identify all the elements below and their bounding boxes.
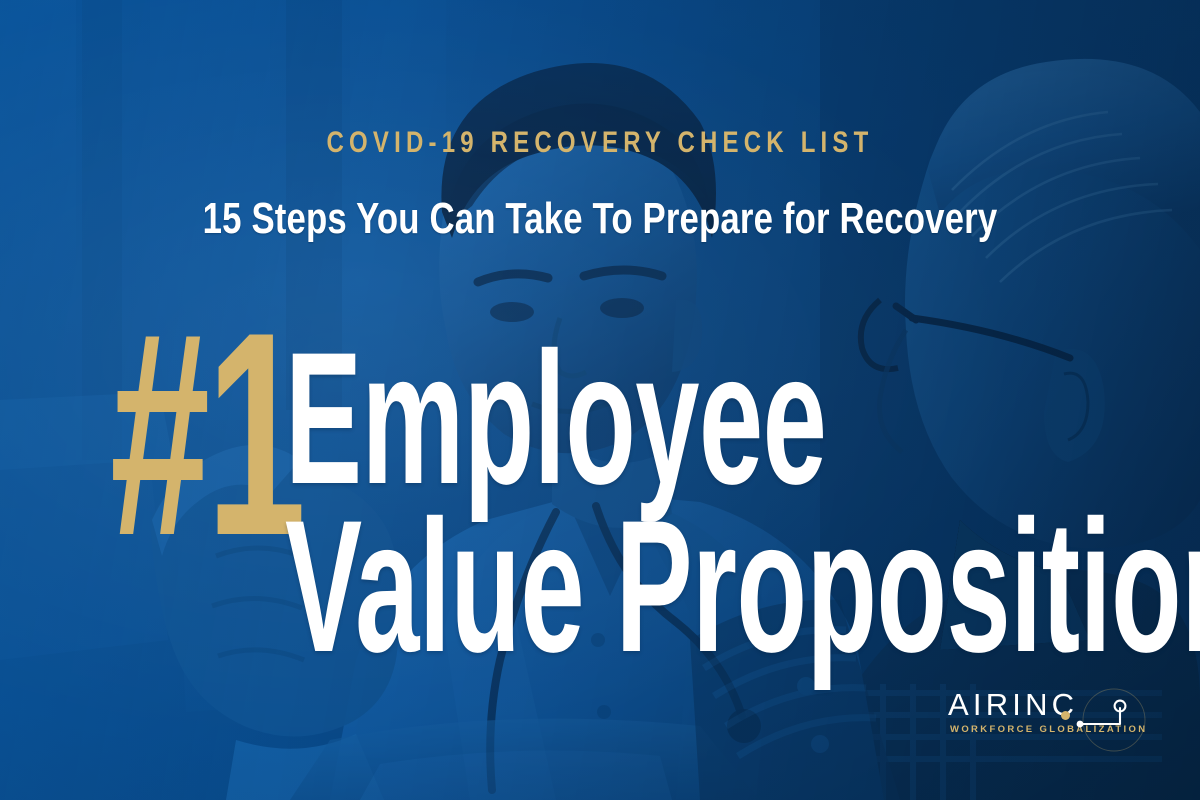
slide-canvas: COVID-19 RECOVERY CHECK LIST 15 Steps Yo… [0, 0, 1200, 800]
headline-line-1: Employee [285, 334, 1200, 502]
logo-wordmark: AIRINC [948, 688, 1078, 721]
page-title: Employee Value Proposition [285, 334, 1200, 670]
halftone-globe-icon [1074, 682, 1150, 758]
logo-dot-icon [1061, 711, 1070, 720]
rank-number: #1 [110, 318, 303, 550]
eyebrow-label: COVID-19 RECOVERY CHECK LIST [120, 126, 1080, 160]
airinc-logo[interactable]: AIRINC WORKFORCE GLOBALIZATION [948, 688, 1153, 758]
headline-line-2: Value Proposition [285, 502, 1200, 670]
subtitle-text: 15 Steps You Can Take To Prepare for Rec… [126, 194, 1074, 244]
